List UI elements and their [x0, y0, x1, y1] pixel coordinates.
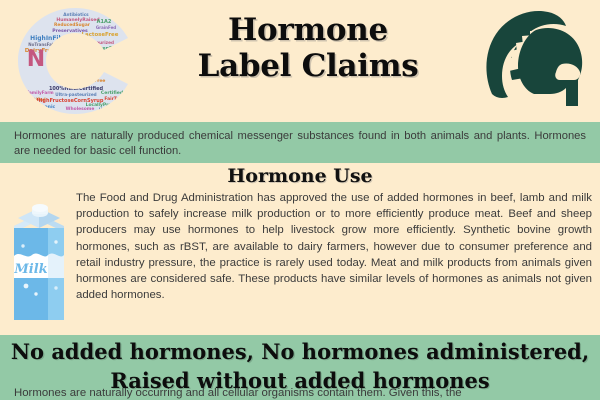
label-claims-word-cloud: Antibiotics HumanelyRaised ReducedSugar …	[8, 4, 143, 119]
milk-carton-label: Milk	[13, 262, 47, 277]
spartan-helmet-logo	[478, 6, 593, 114]
svg-text:GlutenFree: GlutenFree	[91, 46, 122, 52]
intro-text: Hormones are naturally produced chemical…	[14, 129, 586, 159]
svg-text:HighInFiber: HighInFiber	[30, 35, 70, 42]
claims-heading-line-1: No added hormones, No hormones administe…	[0, 335, 600, 364]
claims-partial-text: Hormones are naturally occurring and all…	[0, 385, 600, 400]
svg-text:V: V	[62, 60, 74, 78]
svg-text:ReducedSugar: ReducedSugar	[54, 22, 91, 28]
svg-text:TripleWashed: TripleWashed	[90, 52, 123, 58]
svg-text:EcoFriendly: EcoFriendly	[87, 64, 113, 69]
svg-text:N: N	[27, 47, 45, 72]
svg-text:Pasteurized: Pasteurized	[86, 40, 114, 45]
page-title: Hormone Label Claims	[143, 12, 473, 84]
intro-banner: Hormones are naturally produced chemical…	[0, 122, 600, 163]
title-line-1: Hormone	[143, 12, 473, 48]
svg-text:Antioxidant-Rich: Antioxidant-Rich	[58, 116, 101, 119]
svg-text:Low: Low	[124, 45, 133, 50]
svg-text:NoNitrites: NoNitrites	[66, 80, 90, 85]
svg-text:GrassFed: GrassFed	[33, 116, 56, 119]
svg-text:LactoseFree: LactoseFree	[82, 32, 119, 38]
hormone-use-body-text: The Food and Drug Administration has app…	[76, 190, 592, 303]
svg-text:HeartCheck: HeartCheck	[99, 107, 126, 112]
svg-text:NeverEver: NeverEver	[99, 118, 125, 119]
section-heading-hormone-use: Hormone Use	[0, 164, 600, 188]
svg-text:FamilyFarm: FamilyFarm	[26, 90, 54, 95]
svg-text:Non: Non	[60, 52, 69, 57]
title-line-2: Label Claims	[143, 48, 473, 84]
svg-text:Wholesome: Wholesome	[66, 106, 95, 112]
svg-text:AntibioticFree: AntibioticFree	[71, 78, 106, 84]
svg-text:Ultra-pasteurized: Ultra-pasteurized	[55, 92, 96, 97]
svg-text:Antibiotics: Antibiotics	[63, 12, 89, 17]
svg-text:/: /	[84, 56, 88, 67]
svg-text:Certified: Certified	[101, 90, 123, 96]
svg-text:Tender: Tender	[30, 110, 45, 115]
poster-header: Antibiotics HumanelyRaised ReducedSugar …	[0, 0, 600, 122]
hormone-use-section: Milk The Food and Drug Administration ha…	[0, 190, 600, 335]
svg-text:GrassFinished: GrassFinished	[90, 58, 127, 64]
milk-carton-illustration: Milk	[6, 198, 72, 326]
svg-text:I: I	[51, 57, 57, 77]
svg-text:LessIsMore: LessIsMore	[99, 112, 126, 117]
svg-text:NonGMO: NonGMO	[74, 72, 95, 77]
infographic-poster: Antibiotics HumanelyRaised ReducedSugar …	[0, 0, 600, 400]
svg-text:USDAOrganic: USDAOrganic	[21, 104, 56, 110]
svg-text:FairTrade: FairTrade	[104, 96, 127, 102]
svg-text:GrainFed: GrainFed	[96, 25, 116, 30]
svg-text:CageFree: CageFree	[63, 54, 90, 60]
